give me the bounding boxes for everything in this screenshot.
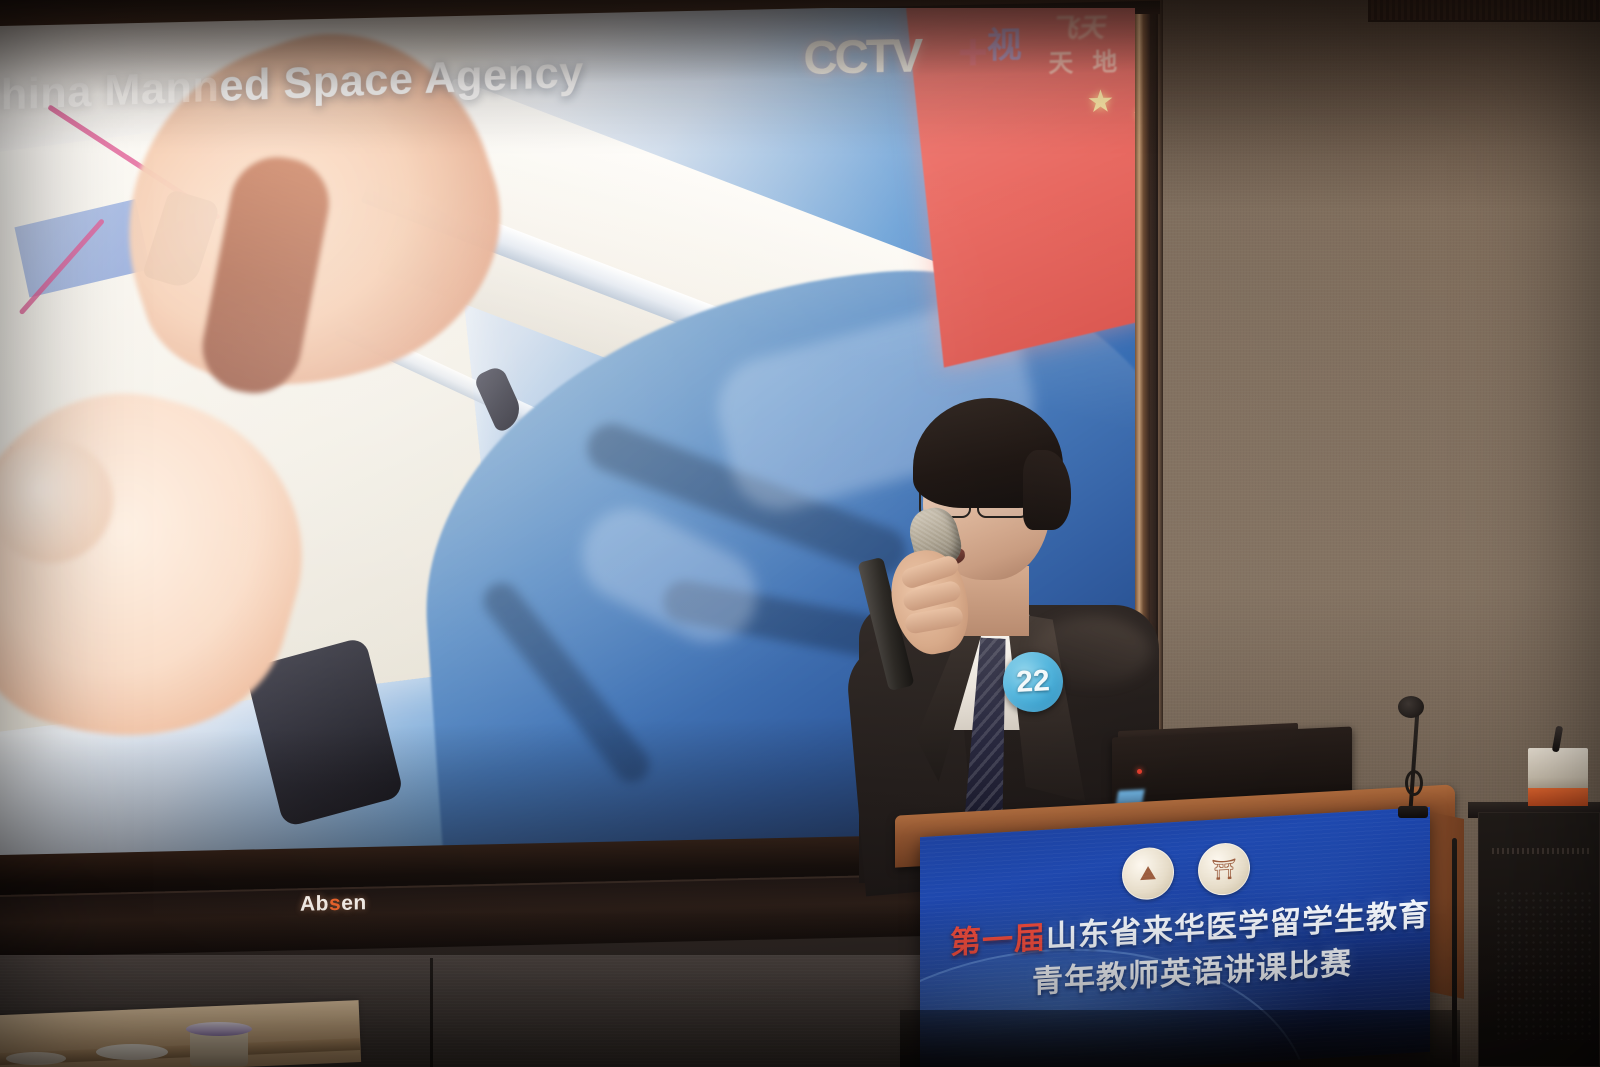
audio-interface-device[interactable] [1528,748,1588,790]
cctv-plus-icon: + [958,21,988,81]
flag-star-1: ★ [1087,87,1115,119]
university-emblem-right: ⛩ [1198,842,1250,897]
screen-title-faded: China Mann [0,62,219,120]
absen-part-1: Ab [300,892,329,916]
rack-vent-slots [1492,848,1592,854]
ceiling-vent [1368,0,1600,22]
gooseneck-mic-base [1398,806,1428,818]
banner-title-line-1: 第一届山东省来华医学留学生教育 [950,889,1420,962]
flag-caption: 天 地 [1049,41,1124,79]
screenshot-root: ★ ★ ★ China Manned Space Agency CCTV + 视… [0,0,1600,1067]
banner-title-main: 山东省来华医学留学生教育 [1046,897,1430,955]
university-emblem-left: ⛰ [1122,846,1174,901]
gooseneck-mic-head[interactable] [1398,696,1424,718]
laptop-power-led-icon [1137,769,1142,774]
banner-title-prefix: 第一届 [950,920,1046,961]
flag-star-2: ★ [1133,104,1135,125]
hair-side [1023,450,1071,530]
banner-title-line-2: 青年教师英语讲课比赛 [1032,937,1352,1001]
gooseneck-mic-coil [1405,770,1423,796]
podium-floor-shadow [900,1010,1460,1067]
rack-mesh-grill [1495,890,1591,1040]
saucer [96,1044,168,1060]
absen-part-2: s [329,892,341,915]
cctv-logo: CCTV [803,27,920,85]
absen-brand-logo: Absen [300,891,367,917]
absen-part-3: en [341,891,367,915]
panel-divider-1 [430,958,433,1067]
small-plate [6,1052,66,1065]
paper-cup-lid [186,1022,252,1036]
orange-device-base [1528,788,1588,806]
cctv-cn-label: 视 [987,17,1024,68]
power-cable [1452,838,1457,1063]
flag-caption-top: 飞天 [1051,8,1105,46]
